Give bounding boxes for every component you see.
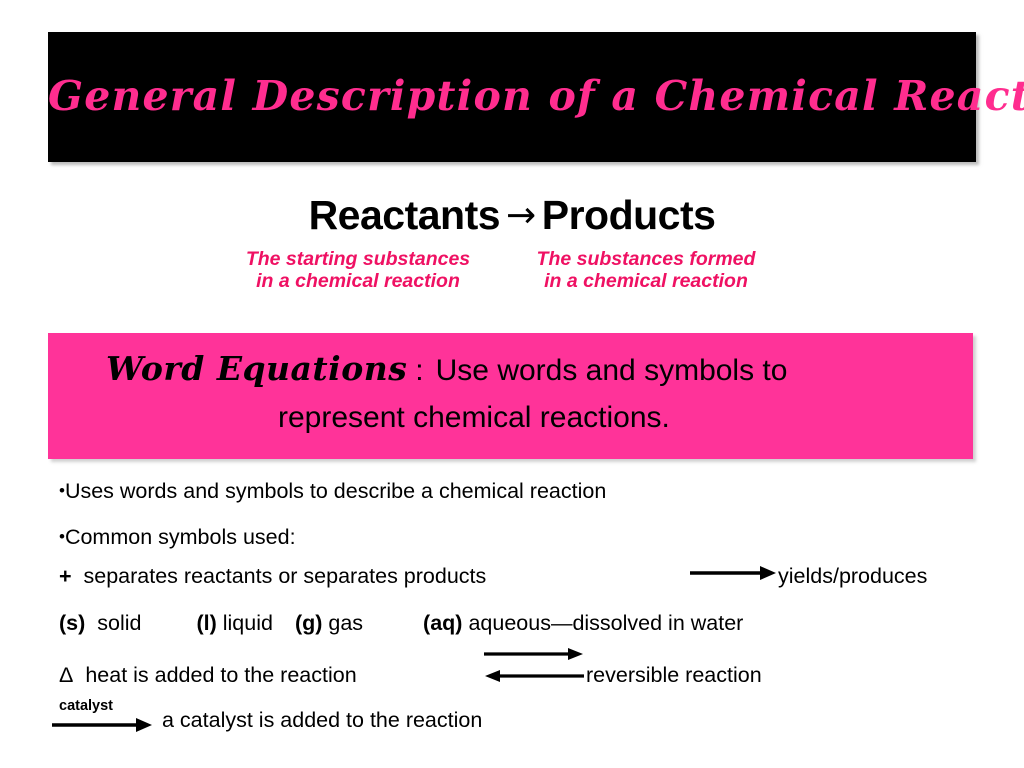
state-liquid-sign: (l) — [196, 611, 216, 635]
title-banner: General Description of a Chemical Reacti… — [48, 32, 976, 162]
reactants-definition: The starting substances in a chemical re… — [243, 249, 473, 292]
state-gas-label: gas — [328, 611, 363, 635]
state-solid-label: solid — [97, 611, 141, 635]
state-liquid: (l) liquid — [196, 611, 272, 636]
plus-sign-icon: + — [59, 564, 72, 588]
bullet-icon: • — [59, 481, 65, 500]
products-definition: The substances formed in a chemical reac… — [531, 249, 761, 292]
list-item-label: Common symbols used: — [65, 525, 296, 549]
word-equations-colon: : — [407, 354, 427, 387]
symbol-states-row: (s) solid(l) liquid(g) gas(aq) aqueous—d… — [59, 611, 743, 636]
reversible-arrow-icon — [484, 645, 584, 687]
state-aqueous: (aq) aqueous—dissolved in water — [423, 611, 743, 636]
state-solid-sign: (s) — [59, 611, 85, 635]
heat-meaning-label: heat is added to the reaction — [85, 663, 356, 687]
state-aqueous-sign: (aq) — [423, 611, 462, 635]
page-title: General Description of a Chemical Reacti… — [48, 72, 976, 120]
reaction-equation-heading: Reactants→Products — [0, 192, 1024, 239]
catalyst-meaning-label: a catalyst is added to the reaction — [162, 708, 482, 733]
reactants-label: Reactants — [309, 192, 500, 238]
state-solid: (s) solid — [59, 611, 141, 636]
products-label: Products — [542, 192, 716, 238]
word-equations-banner: Word Equations:Use words and symbols to … — [48, 333, 973, 459]
symbol-heat-row: Δ heat is added to the reaction — [59, 663, 357, 688]
catalyst-arrow-label: catalyst — [59, 698, 113, 714]
yields-meaning-label: yields/produces — [778, 564, 927, 589]
list-item-label: Uses words and symbols to describe a che… — [65, 479, 606, 503]
word-equations-description-line1: Use words and symbols to — [428, 354, 788, 387]
state-aqueous-label: aqueous—dissolved in water — [468, 611, 743, 635]
state-gas: (g) gas — [295, 611, 363, 636]
state-liquid-label: liquid — [223, 611, 273, 635]
bullet-icon: • — [59, 527, 65, 546]
word-equations-term: Word Equations — [106, 349, 407, 388]
word-equations-headline: Word Equations:Use words and symbols to — [106, 349, 787, 388]
reversible-meaning-label: reversible reaction — [586, 663, 762, 688]
word-equations-description-line2: represent chemical reactions. — [278, 401, 670, 435]
symbol-plus-row: + separates reactants or separates produ… — [59, 564, 486, 589]
catalyst-arrow-icon — [52, 716, 152, 734]
list-item: •Uses words and symbols to describe a ch… — [59, 479, 606, 504]
yields-arrow-icon — [690, 562, 776, 584]
state-gas-sign: (g) — [295, 611, 322, 635]
plus-meaning-label: separates reactants or separates product… — [84, 564, 487, 588]
yields-arrow-icon: → — [500, 195, 542, 236]
list-item: •Common symbols used: — [59, 525, 296, 550]
delta-sign-icon: Δ — [59, 663, 73, 687]
